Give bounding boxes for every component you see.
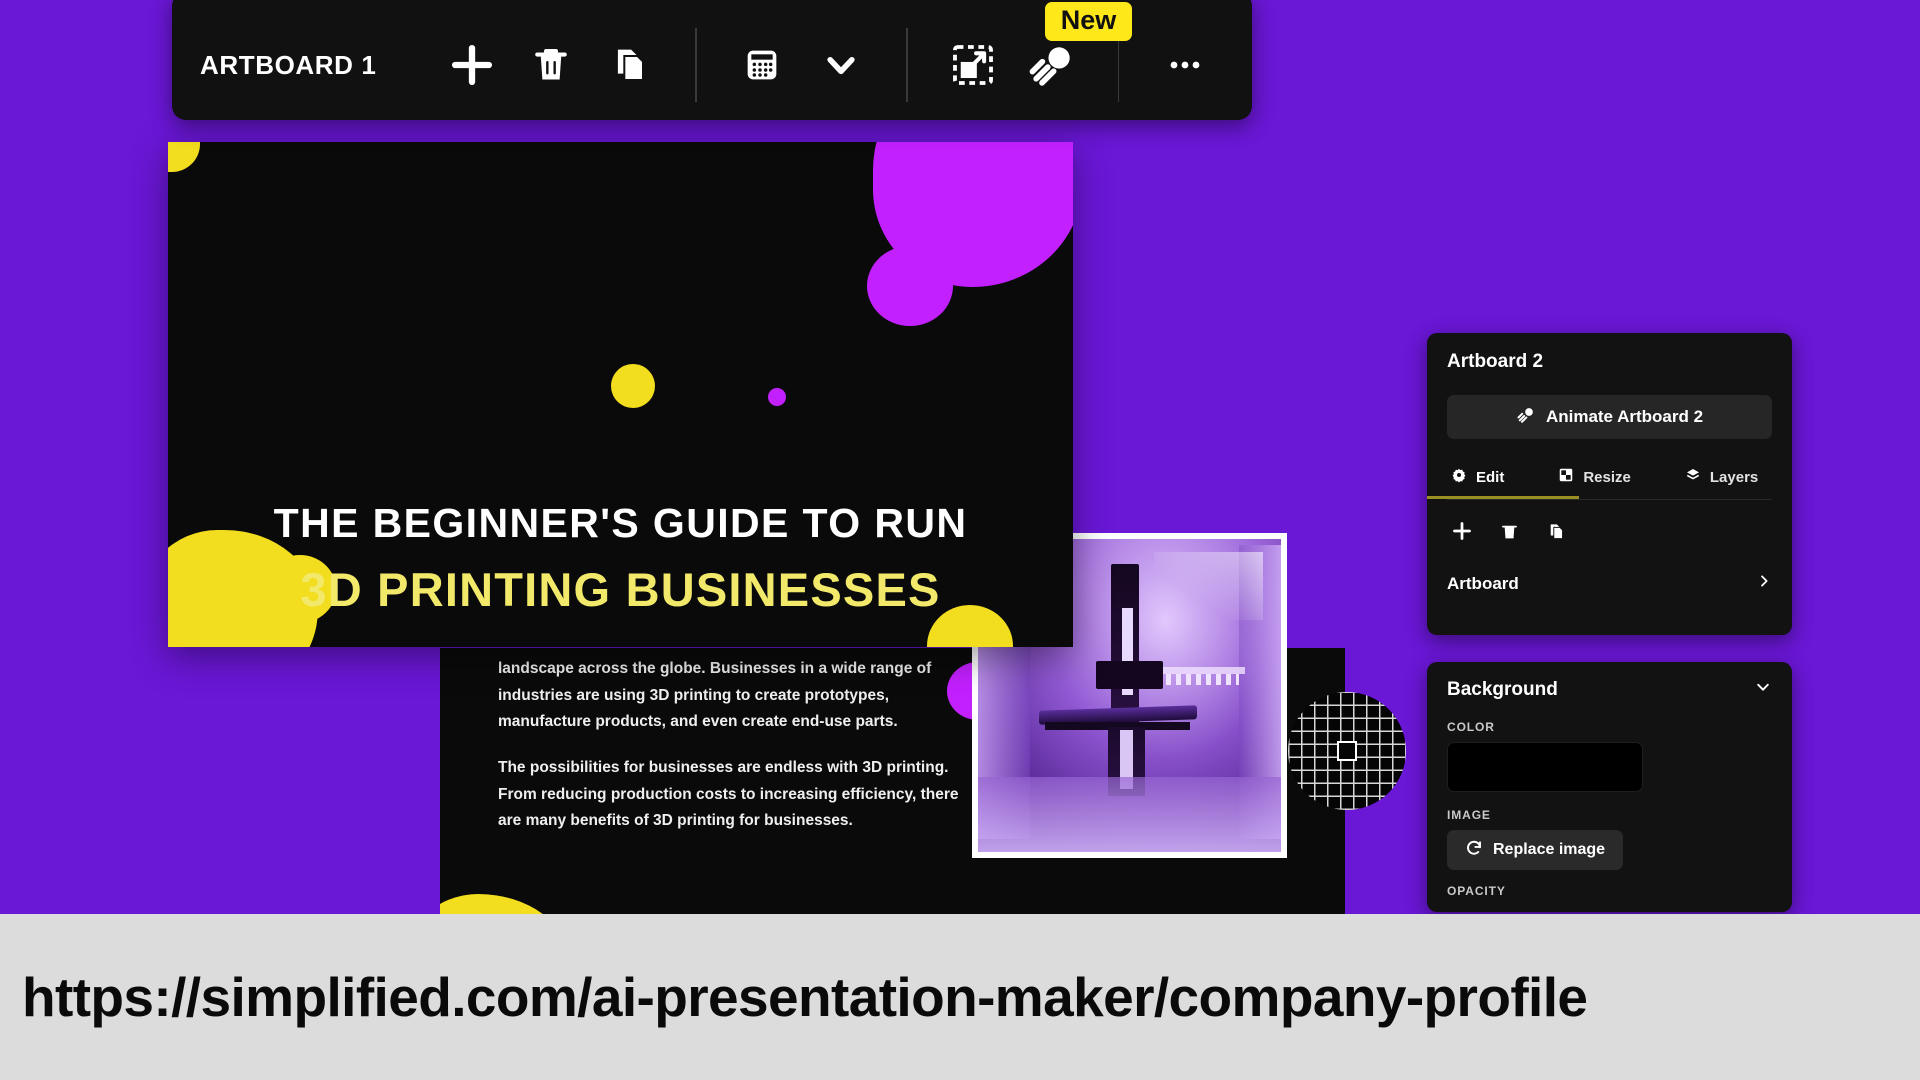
chevron-down-icon [820,44,862,86]
decor-dot-magenta-1 [768,388,786,406]
magic-wand-icon [1516,405,1536,430]
artboard-properties-panel: Artboard 2 Animate Artboard 2 Edit [1427,333,1792,635]
duplicate-artboard-button[interactable] [604,34,655,96]
artboard-row[interactable]: Artboard [1447,573,1772,594]
slide-2-body-text[interactable]: landscape across the globe. Businesses i… [498,656,968,835]
artboard-1-canvas[interactable]: THE BEGINNER'S GUIDE TO RUN 3D PRINTING … [168,142,1073,647]
decor-yellow-corner [168,142,200,172]
gear-icon [1451,467,1467,487]
url-text[interactable]: https://simplified.com/ai-presentation-m… [0,965,1587,1029]
photo-highlight [1154,552,1263,621]
artboard-row-label: Artboard [1447,574,1519,594]
layers-icon [1685,467,1701,487]
chevron-down-icon[interactable] [1754,678,1772,702]
image-label: IMAGE [1447,808,1772,822]
tab-edit-label: Edit [1476,469,1504,486]
artboard-action-icons [1447,520,1772,547]
photo-shelf-items [1166,674,1239,685]
copy-icon [608,43,652,87]
photo-printer-head [1096,661,1163,689]
decor-grid-circle-center [1337,741,1357,761]
slide-1-subtitle[interactable]: 3D PRINTING BUSINESSES [168,562,1073,617]
grid-icon [742,45,782,85]
artboard-name-label: ARTBOARD 1 [200,50,376,81]
resize-icon [1558,467,1574,487]
tabs-rule [1447,499,1772,500]
photo-floor [978,777,1281,852]
url-bar: https://simplified.com/ai-presentation-m… [0,914,1920,1080]
background-properties-panel: Background COLOR IMAGE Replace image OPA… [1427,662,1792,912]
panel-copy-icon[interactable] [1546,521,1567,547]
animate-artboard-2-button[interactable]: Animate Artboard 2 [1447,395,1772,439]
plus-icon [449,42,495,88]
background-color-swatch[interactable] [1447,742,1643,792]
slide-2-paragraph-1: landscape across the globe. Businesses i… [498,656,968,736]
refresh-icon [1465,839,1483,862]
resize-artboard-button[interactable] [948,34,999,96]
animate-artboard-button[interactable]: New [1027,34,1078,96]
resize-expand-icon [950,42,996,88]
new-badge: New [1045,2,1133,41]
more-horizontal-icon [1163,43,1207,87]
decor-grid-circle [1288,692,1406,810]
artboard-toolbar: ARTBOARD 1 [172,0,1252,120]
more-options-button[interactable] [1159,34,1210,96]
trash-icon [529,43,573,87]
panel-plus-icon[interactable] [1451,520,1473,547]
tab-layers[interactable]: Layers [1685,467,1758,499]
delete-artboard-button[interactable] [525,34,576,96]
app-canvas: ARTBOARD 1 [0,0,1920,1080]
tab-edit[interactable]: Edit [1451,467,1504,499]
slide-2-paragraph-2: The possibilities for businesses are end… [498,755,968,835]
color-label: COLOR [1447,720,1772,734]
panel-title-background: Background [1447,679,1558,701]
tab-active-indicator [1427,496,1579,499]
decor-magenta-blob-top-small [867,246,953,326]
decor-dot-yellow-1 [611,364,655,408]
toolbar-divider-1 [695,28,697,102]
opacity-label: OPACITY [1447,884,1772,898]
slide-1-title[interactable]: THE BEGINNER'S GUIDE TO RUN [168,500,1073,547]
grid-layout-button[interactable] [737,34,788,96]
replace-image-label: Replace image [1493,841,1605,859]
panel-title-artboard: Artboard 2 [1447,351,1772,373]
grid-dropdown-button[interactable] [815,34,866,96]
tab-resize[interactable]: Resize [1558,467,1631,499]
tab-resize-label: Resize [1583,469,1631,486]
artboard-panel-tabs: Edit Resize [1447,467,1772,499]
add-artboard-button[interactable] [446,34,497,96]
background-panel-header[interactable]: Background [1447,678,1772,702]
toolbar-divider-2 [906,28,908,102]
animate-magic-icon [1027,40,1077,90]
replace-image-button[interactable]: Replace image [1447,830,1623,870]
tab-layers-label: Layers [1710,469,1758,486]
animate-button-label: Animate Artboard 2 [1546,407,1703,427]
chevron-right-icon [1756,573,1772,594]
panel-trash-icon[interactable] [1499,521,1520,547]
